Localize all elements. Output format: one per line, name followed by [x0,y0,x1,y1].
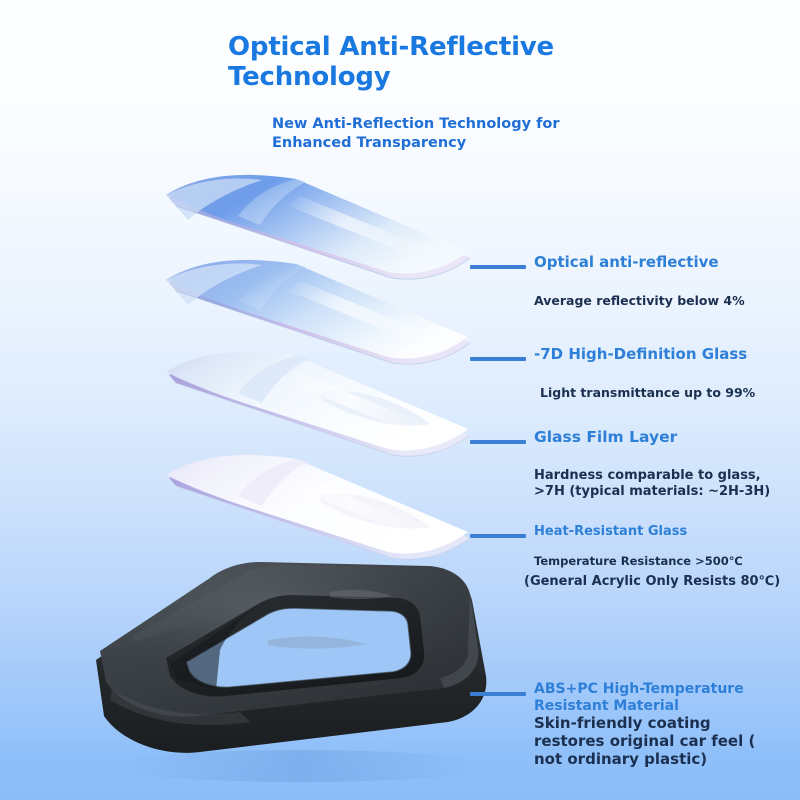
glass-layer-heat-resistant-glass [166,455,470,559]
callout-heading: Heat-Resistant Glass [534,524,764,540]
callout-detail: Temperature Resistance >500℃ [534,554,794,568]
callout-heading: ABS+PC High-Temperature Resistant Materi… [534,681,774,715]
page-title: Optical Anti-Reflective Technology [228,32,568,93]
leader-line-icon [470,440,526,444]
infographic-canvas: Optical Anti-Reflective Technology New A… [0,0,800,800]
leader-line-icon [470,534,526,538]
glass-layer-glass-film [166,352,470,456]
page-subtitle: New Anti-Reflection Technology for Enhan… [272,115,572,154]
callout-detail: Hardness comparable to glass, >7H (typic… [534,468,794,501]
callout-detail: Skin-friendly coating restores original … [534,714,764,768]
leader-line-icon [470,265,526,269]
car-trim-bezel [96,562,486,753]
callout-detail: Light transmittance up to 99% [540,385,790,401]
leader-line-icon [470,692,526,696]
leader-line-icon [470,357,526,361]
callout-heading: Optical anti-reflective [534,253,764,271]
callout-heading: Glass Film Layer [534,428,764,447]
callout-detail: Average reflectivity below 4% [534,293,784,309]
callout-detail-secondary: (General Acrylic Only Resists 80℃) [524,574,794,590]
callout-heading: -7D High-Definition Glass [534,345,764,363]
